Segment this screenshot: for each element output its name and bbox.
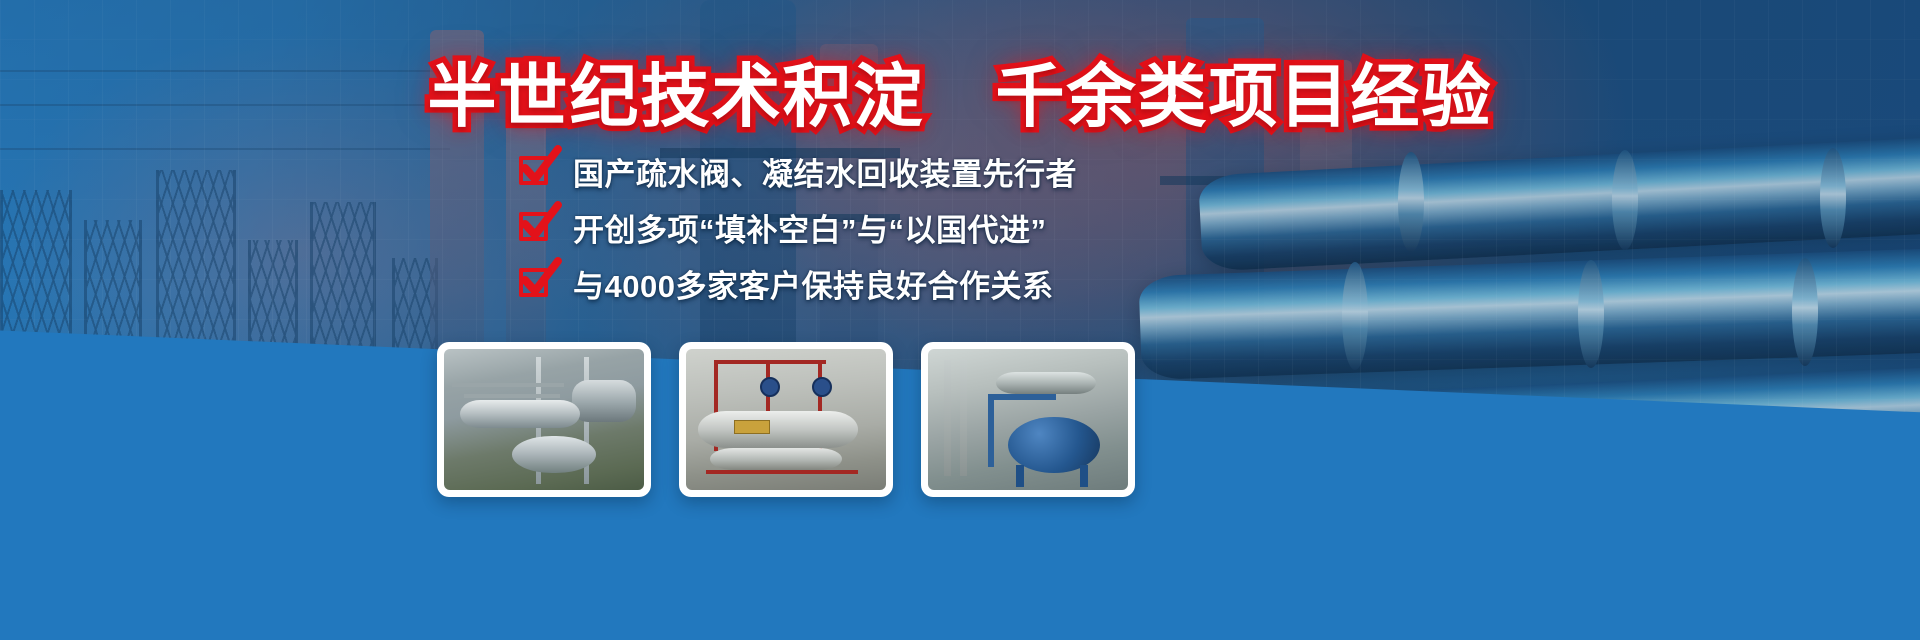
checkbox-checked-icon — [519, 266, 553, 300]
project-photo-gallery — [437, 342, 1135, 497]
list-item: 开创多项“填补空白”与“以国代进” — [519, 206, 1077, 248]
photo-card-3[interactable] — [921, 342, 1135, 497]
checkbox-checked-icon — [519, 210, 553, 244]
photo-card-1[interactable] — [437, 342, 651, 497]
project-photo-image — [928, 349, 1128, 490]
photo-card-2[interactable] — [679, 342, 893, 497]
project-photo-image — [686, 349, 886, 490]
feature-list: 国产疏水阀、凝结水回收装置先行者 开创多项“填补空白”与“以国代进” 与4000… — [519, 150, 1077, 304]
promo-banner: 半世纪技术积淀 千余类项目经验 国产疏水阀、凝结水回收装置先行者 开创多项“填补… — [0, 0, 1920, 640]
list-item-label: 开创多项“填补空白”与“以国代进” — [573, 205, 1047, 250]
list-item: 国产疏水阀、凝结水回收装置先行者 — [519, 150, 1077, 192]
project-photo-image — [444, 349, 644, 490]
page-title: 半世纪技术积淀 千余类项目经验 — [0, 40, 1920, 140]
list-item: 与4000多家客户保持良好合作关系 — [519, 262, 1077, 304]
checkbox-checked-icon — [519, 154, 553, 188]
list-item-label: 与4000多家客户保持良好合作关系 — [573, 261, 1053, 306]
list-item-label: 国产疏水阀、凝结水回收装置先行者 — [573, 149, 1077, 194]
